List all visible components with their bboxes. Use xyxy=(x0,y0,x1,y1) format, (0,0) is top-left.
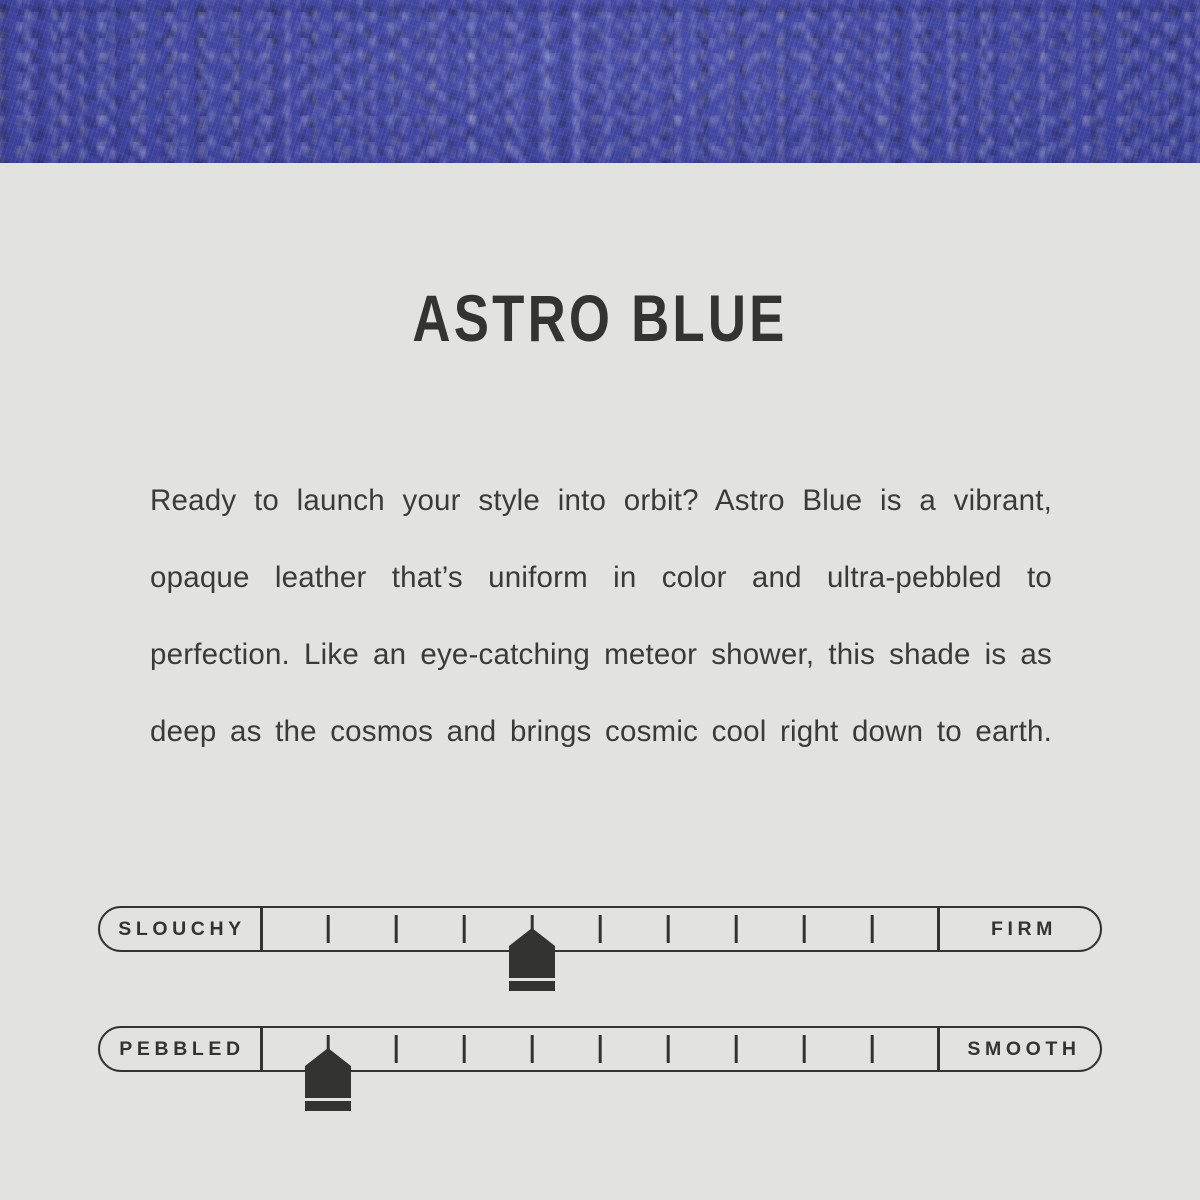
scale-marker-base xyxy=(509,981,555,991)
scale-tick xyxy=(667,915,670,943)
page-title: ASTRO BLUE xyxy=(120,282,1080,354)
scale-divider-left xyxy=(260,906,263,952)
scale-tick xyxy=(599,1035,602,1063)
scale-tick xyxy=(871,915,874,943)
scale-tick xyxy=(803,915,806,943)
leather-vignette-overlay xyxy=(0,0,1200,163)
scale-tick xyxy=(735,915,738,943)
product-description: Ready to launch your style into orbit? A… xyxy=(150,462,1052,847)
scale-tick xyxy=(667,1035,670,1063)
scale-tick xyxy=(803,1035,806,1063)
scale-label-left: PEBBLED xyxy=(98,1026,260,1072)
scale-tick xyxy=(463,915,466,943)
scale-tick xyxy=(395,1035,398,1063)
scale-tick xyxy=(735,1035,738,1063)
scale-texture[interactable]: PEBBLED SMOOTH xyxy=(98,1026,1102,1072)
scale-tick xyxy=(871,1035,874,1063)
scale-structure[interactable]: SLOUCHY FIRM xyxy=(98,906,1102,952)
scale-tick xyxy=(463,1035,466,1063)
scale-tick xyxy=(327,915,330,943)
scale-tick xyxy=(395,915,398,943)
scale-tick xyxy=(599,915,602,943)
scale-label-left: SLOUCHY xyxy=(98,906,260,952)
leather-swatch-band xyxy=(0,0,1200,163)
scale-tick xyxy=(531,1035,534,1063)
scale-divider-left xyxy=(260,1026,263,1072)
scale-label-right: FIRM xyxy=(940,906,1102,952)
scale-label-right: SMOOTH xyxy=(940,1026,1102,1072)
scale-marker-base xyxy=(305,1101,351,1111)
